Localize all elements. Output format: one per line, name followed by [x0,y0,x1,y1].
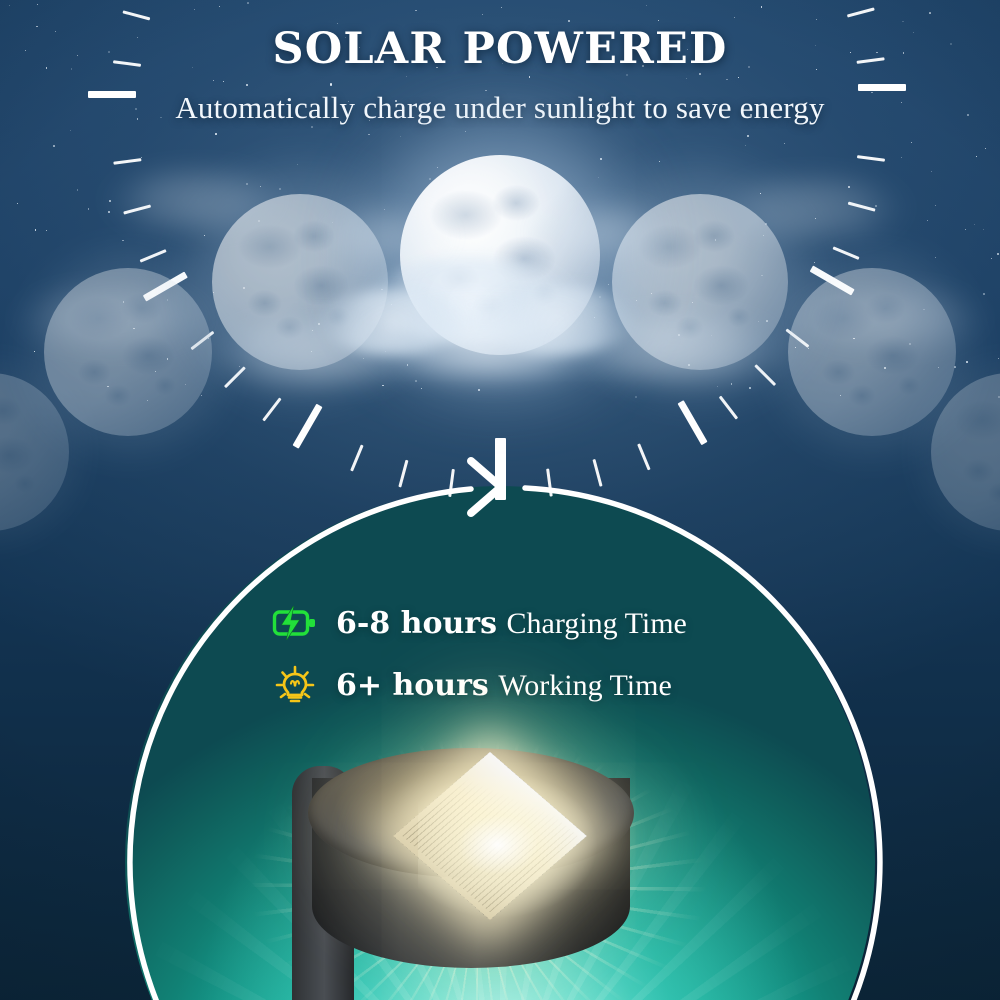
solar-path-light [268,742,688,1000]
cloud-icon [101,173,291,227]
cloud-icon [7,292,217,344]
cloud-icon [783,292,993,344]
cloud-icon [712,180,912,236]
cloud-icon [552,318,792,378]
cloud-icon [525,210,675,254]
cloud-icon [316,215,456,257]
cloud-icon [203,323,433,381]
solar-powered-infographic: SOLAR POWERED Automatically charge under… [0,0,1000,1000]
night-clouds [0,0,1000,520]
